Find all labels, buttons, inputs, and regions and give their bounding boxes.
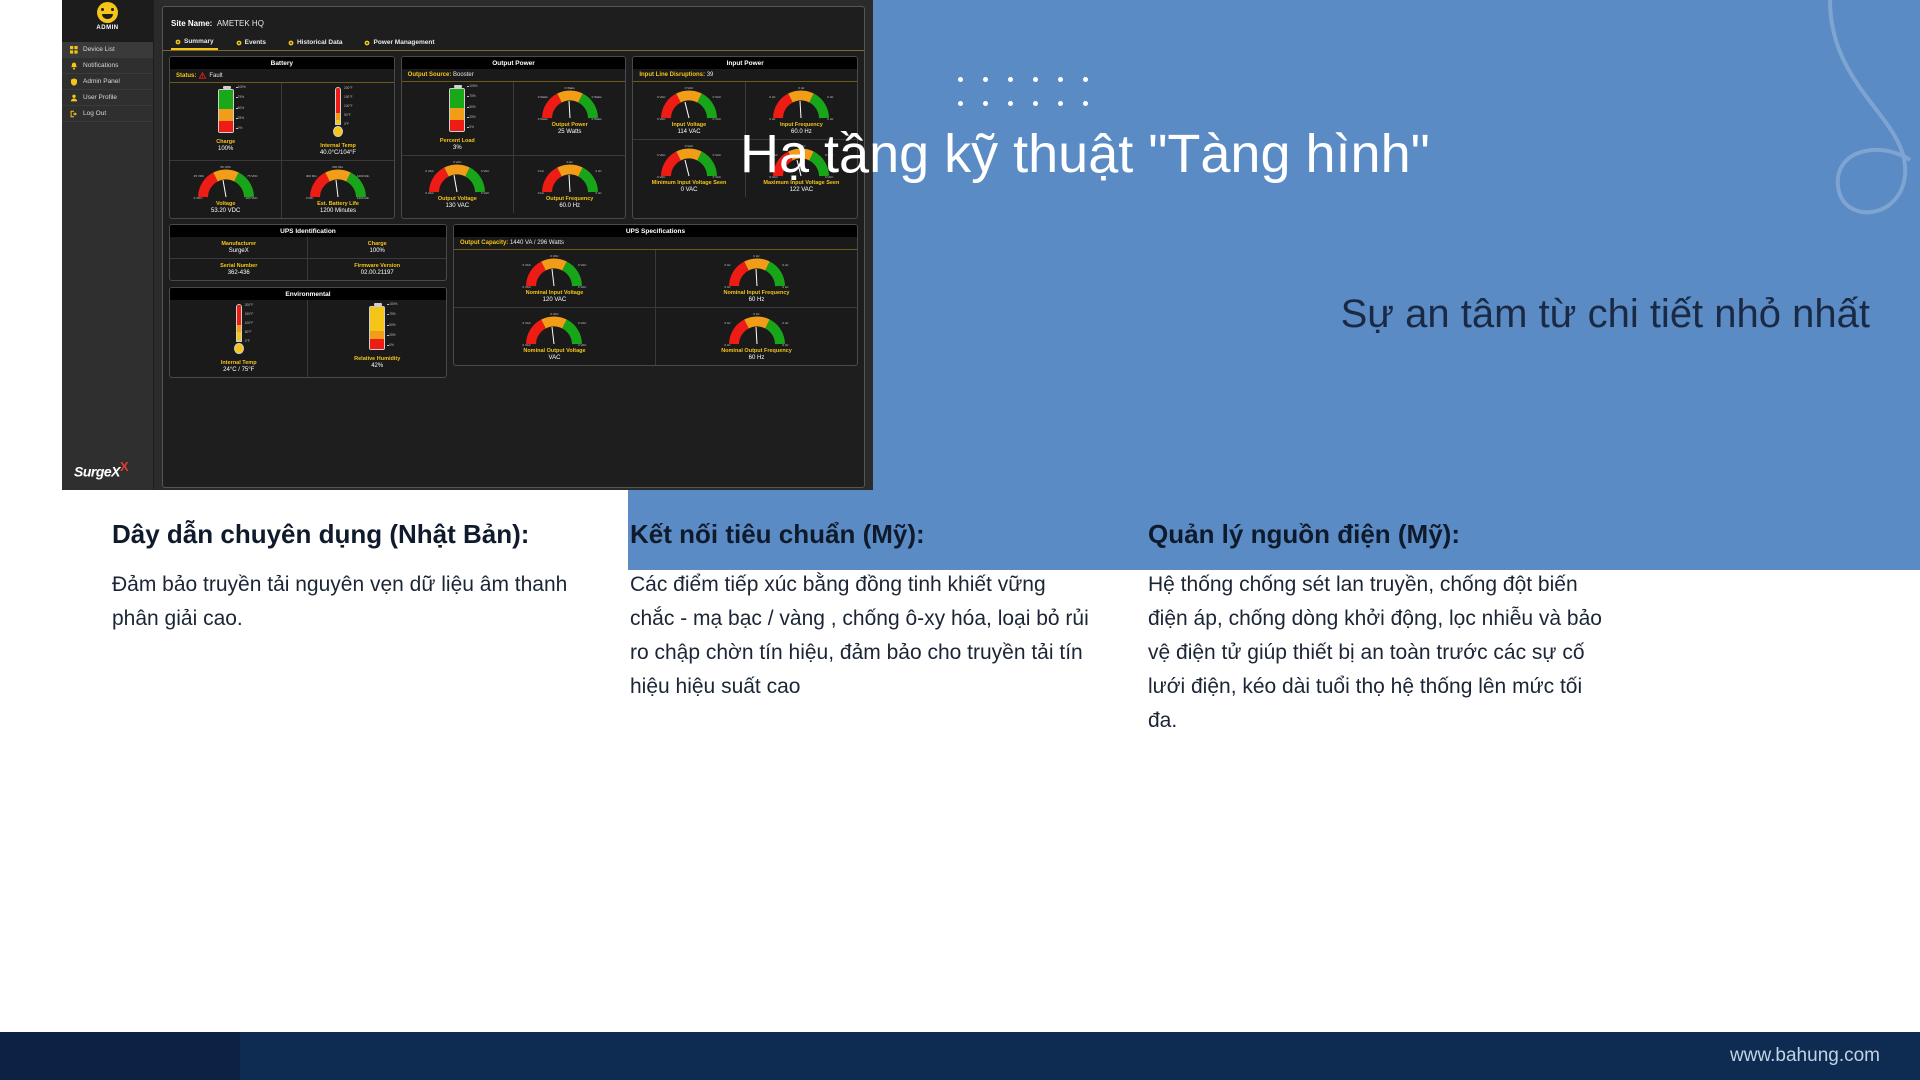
humidity-level-indicator xyxy=(369,306,385,350)
metric-value: 42% xyxy=(310,363,443,369)
card-title: UPS Specifications xyxy=(454,225,857,237)
card-ups-identification: UPS Identification Manufacturer SurgeX C… xyxy=(169,224,447,281)
gauge-tick: 0 VAC xyxy=(522,343,530,347)
feature-body: Đảm bảo truyền tải nguyên vẹn dữ liệu âm… xyxy=(112,568,572,636)
metric-minimum-input-voltage-seen: 0 VAC 0 VAC 0 VAC 0 VAC 0 VAC Minimum In… xyxy=(633,140,745,197)
slide-headline: Hạ tầng kỹ thuật "Tàng hình" xyxy=(740,125,1870,184)
gauge-tick: 1200 Min. xyxy=(357,196,370,200)
metric-value: 60 Hz xyxy=(658,355,855,361)
metric-label: Voltage xyxy=(172,201,279,207)
sidebar-item-admin-panel[interactable]: Admin Panel xyxy=(62,74,153,90)
gear-icon xyxy=(236,40,242,46)
metric-label: Relative Humidity xyxy=(310,356,443,362)
app-main-content: Site Name: AMETEK HQ Summary Events Hist… xyxy=(154,0,873,490)
bell-icon xyxy=(70,62,78,70)
metric-output-voltage: 0 VAC 0 VAC 0 VAC 0 VAC 0 VAC Output Vol… xyxy=(402,156,514,213)
tab-label: Historical Data xyxy=(297,39,343,46)
site-name-label: Site Name: xyxy=(171,19,212,28)
gauge-tick: 0 VAC xyxy=(578,285,586,289)
card-title: UPS Identification xyxy=(170,225,446,237)
gauge-tick: 0 Watts xyxy=(565,86,575,90)
dashboard-panel: Site Name: AMETEK HQ Summary Events Hist… xyxy=(162,6,865,488)
metric-label: Percent Load xyxy=(404,138,511,144)
input-line-disruptions: Input Line Disruptions: 39 xyxy=(633,69,857,82)
gauge-tick: 100 VDC xyxy=(245,196,257,200)
metric-label: Input Voltage xyxy=(635,122,742,128)
gauge-tick: 0 VAC xyxy=(522,285,530,289)
metric-value: 0 VAC xyxy=(635,187,742,193)
gauge-tick: 0 Hz xyxy=(725,321,731,325)
gauge-tick: 0 Hz xyxy=(596,191,602,195)
slide-footer: www.bahung.com xyxy=(0,1032,1920,1080)
gauge-tick: 0 VAC xyxy=(685,144,693,148)
metric-label: Output Frequency xyxy=(516,196,623,202)
metric-internal-temp: 200°F 150°F 100°F 50°F 0°F Internal Temp… xyxy=(282,83,393,160)
card-title: Environmental xyxy=(170,288,446,300)
gauge-tick: 1200 Min. xyxy=(357,174,370,178)
gauge-tick: 0 Watts xyxy=(592,95,602,99)
ups-id-row-1: Manufacturer SurgeX Charge 100% xyxy=(170,237,446,258)
sidebar-item-device-list[interactable]: Device List xyxy=(62,42,153,58)
output-capacity: Output Capacity: 1440 VA / 296 Watts xyxy=(454,237,857,250)
metric-value: 1200 Minutes xyxy=(284,208,391,214)
disruptions-label: Input Line Disruptions: xyxy=(639,72,705,78)
feature-column-3: Quản lý nguồn điện (Mỹ): Hệ thống chống … xyxy=(1148,515,1608,738)
metric-percent-load: 100% 75% 50% 25% 0% Percent Load 3% xyxy=(402,82,514,155)
slide-subheadline: Sự an tâm từ chi tiết nhỏ nhất xyxy=(740,292,1870,337)
battery-ticks: 100% 75% 50% 25% 0% xyxy=(236,86,252,130)
metric-label: Output Voltage xyxy=(404,196,511,202)
metric-value: 53.20 VDC xyxy=(172,208,279,214)
status-value: Fault xyxy=(209,73,222,79)
gauge-tick: 0 VDC xyxy=(194,196,203,200)
gauge-tick: 0 Hz xyxy=(769,95,775,99)
site-name-value: AMETEK HQ xyxy=(217,19,264,28)
metric-output-power: 0 Watts 0 Watts 0 Watts 0 Watts 0 Watts … xyxy=(514,82,625,155)
feature-body: Hệ thống chống sét lan truyền, chống đột… xyxy=(1148,568,1608,738)
battery-metrics-row-2: 50 VDC 25 VDC 75 VDC 0 VDC 100 VDC Volta… xyxy=(170,160,394,218)
gauge-minimum-input-voltage: 0 VAC 0 VAC 0 VAC 0 VAC 0 VAC xyxy=(660,145,718,179)
metric-label: Charge xyxy=(172,139,279,145)
gauge-input-frequency: 0 Hz 0 Hz 0 Hz 0 Hz 0 Hz xyxy=(772,87,830,121)
footer-notch xyxy=(0,1032,240,1080)
gauge-tick: 0 Hz xyxy=(725,263,731,267)
gauge-tick: 0 VAC xyxy=(713,175,721,179)
metric-output-frequency: 0 Hz 0 Hz 0 Hz 0 Hz 0 Hz Output Frequenc… xyxy=(514,156,625,213)
field-serial-number: Serial Number 362-436 xyxy=(170,259,308,280)
tab-summary[interactable]: Summary xyxy=(171,35,218,50)
warning-triangle-icon xyxy=(199,72,206,79)
metric-relative-humidity: 100% 75% 50% 25% 0% Relative Humidity 42… xyxy=(308,300,445,377)
gauge-nominal-input-voltage: 0 VAC 0 VAC 0 VAC 0 VAC 0 VAC xyxy=(525,255,583,289)
gauge-tick: 0 VAC xyxy=(578,343,586,347)
gauge-tick: 0 VAC xyxy=(685,86,693,90)
gauge-tick: 25 VDC xyxy=(194,174,205,178)
gauge-tick: 0 VAC xyxy=(578,321,586,325)
gauge-tick: 0 Hz xyxy=(827,95,833,99)
tab-events[interactable]: Events xyxy=(232,35,270,50)
metric-value: 24°C / 75°F xyxy=(172,367,305,373)
card-environmental: Environmental 200°F xyxy=(169,287,447,378)
feature-column-2: Kết nối tiêu chuẩn (Mỹ): Các điểm tiếp x… xyxy=(630,515,1090,738)
metric-value: 130 VAC xyxy=(404,203,511,209)
feature-column-1: Dây dẫn chuyên dụng (Nhật Bản): Đảm bảo … xyxy=(112,515,572,738)
gauge-est-battery-life: 600 Min. 300 Min. 1200 Min. 0 Min. 1200 … xyxy=(309,166,367,200)
gauge-output-power: 0 Watts 0 Watts 0 Watts 0 Watts 0 Watts xyxy=(541,87,599,121)
sidebar-item-label: Notifications xyxy=(83,62,118,69)
gauge-voltage: 50 VDC 25 VDC 75 VDC 0 VDC 100 VDC xyxy=(197,166,255,200)
environmental-metrics: 200°F 150°F 100°F 50°F 0°F Internal Temp… xyxy=(170,300,446,377)
metric-label: Minimum Input Voltage Seen xyxy=(635,180,742,186)
ups-id-row-2: Serial Number 362-436 Firmware Version 0… xyxy=(170,258,446,280)
sidebar-item-label: Log Out xyxy=(83,110,106,117)
ups-dashboard-screenshot: ADMIN Device List Notifications Admin Pa… xyxy=(62,0,873,490)
gauge-tick: 0 VAC xyxy=(522,263,530,267)
feature-heading: Dây dẫn chuyên dụng (Nhật Bản): xyxy=(112,515,572,554)
battery-level-indicator xyxy=(218,89,234,133)
gauge-tick: 0 VAC xyxy=(550,312,558,316)
gauge-nominal-output-voltage: 0 VAC 0 VAC 0 VAC 0 VAC 0 VAC xyxy=(525,313,583,347)
gauge-tick: 0 VAC xyxy=(425,191,433,195)
output-capacity-value: 1440 VA / 296 Watts xyxy=(510,240,564,246)
sidebar-item-log-out[interactable]: Log Out xyxy=(62,106,153,122)
gauge-tick: 0 VAC xyxy=(578,263,586,267)
gear-icon xyxy=(175,39,181,45)
gauge-tick: 300 Min. xyxy=(306,174,318,178)
gauge-tick: 75 VDC xyxy=(247,174,258,178)
gauge-tick: 0 VAC xyxy=(657,117,665,121)
gauge-tick: 0 Hz xyxy=(725,343,731,347)
status-label: Status: xyxy=(176,73,196,79)
grid-icon xyxy=(70,46,78,54)
field-value: 362-436 xyxy=(172,270,305,276)
field-charge: Charge 100% xyxy=(308,237,445,258)
gauge-tick: 0 Hz xyxy=(798,86,804,90)
card-title: Output Power xyxy=(402,57,626,69)
gauge-tick: 0 Watts xyxy=(538,95,548,99)
feature-heading: Quản lý nguồn điện (Mỹ): xyxy=(1148,515,1608,554)
gauge-input-voltage: 0 VAC 0 VAC 0 VAC 0 VAC 0 VAC xyxy=(660,87,718,121)
site-name-bar: Site Name: AMETEK HQ xyxy=(163,7,864,35)
metric-env-internal-temp: 200°F 150°F 100°F 50°F 0°F Internal Temp… xyxy=(170,300,308,377)
footer-website-url: www.bahung.com xyxy=(1730,1045,1880,1067)
metric-value: 3% xyxy=(404,145,511,151)
gauge-nominal-input-frequency: 0 Hz 0 Hz 0 Hz 0 Hz 0 Hz xyxy=(728,255,786,289)
logout-icon xyxy=(70,110,78,118)
gauge-tick: 0 Watts xyxy=(538,117,548,121)
sidebar-item-user-profile[interactable]: User Profile xyxy=(62,90,153,106)
feature-heading: Kết nối tiêu chuẩn (Mỹ): xyxy=(630,515,1090,554)
field-manufacturer: Manufacturer SurgeX xyxy=(170,237,308,258)
app-sidebar: ADMIN Device List Notifications Admin Pa… xyxy=(62,0,154,490)
output-source-label: Output Source: xyxy=(408,72,452,78)
output-metrics-row-2: 0 VAC 0 VAC 0 VAC 0 VAC 0 VAC Output Vol… xyxy=(402,155,626,213)
feature-columns: Dây dẫn chuyên dụng (Nhật Bản): Đảm bảo … xyxy=(112,515,1812,738)
gauge-tick: 0 Hz xyxy=(725,285,731,289)
metric-input-voltage: 0 VAC 0 VAC 0 VAC 0 VAC 0 VAC Input Volt… xyxy=(633,82,745,139)
gauge-tick: 0 VAC xyxy=(657,175,665,179)
battery-status: Status: Fault xyxy=(170,69,394,83)
user-avatar-icon xyxy=(97,2,118,23)
gauge-tick: 0 Hz xyxy=(596,169,602,173)
metric-label: Nominal Output Frequency xyxy=(658,348,855,354)
metric-value: 40.0°C/104°F xyxy=(284,150,391,156)
tab-historical-data[interactable]: Historical Data xyxy=(284,35,347,50)
gauge-tick: 0 VAC xyxy=(522,321,530,325)
field-label: Serial Number xyxy=(172,263,305,269)
field-value: SurgeX xyxy=(172,248,305,254)
metric-value: 120 VAC xyxy=(456,297,653,303)
metric-label: Output Power xyxy=(516,122,623,128)
dashboard-tabs: Summary Events Historical Data Power Man… xyxy=(163,35,864,51)
sidebar-item-label: Admin Panel xyxy=(83,78,120,85)
gauge-tick: 0 Min. xyxy=(306,196,314,200)
output-source-value: Booster xyxy=(453,72,474,78)
disruptions-value: 39 xyxy=(707,72,714,78)
sidebar-item-label: User Profile xyxy=(83,94,117,101)
gauge-tick: 0 Watts xyxy=(592,117,602,121)
battery-ticks: 100% 75% 50% 25% 0% xyxy=(387,303,403,347)
metric-label: Nominal Output Voltage xyxy=(456,348,653,354)
gauge-tick: 0 VAC xyxy=(713,153,721,157)
tab-label: Power Management xyxy=(373,39,434,46)
gauge-tick: 0 VAC xyxy=(425,169,433,173)
gauge-tick: 0 VAC xyxy=(481,191,489,195)
metric-nominal-output-voltage: 0 VAC 0 VAC 0 VAC 0 VAC 0 VAC Nominal Ou… xyxy=(454,308,656,365)
gauge-tick: 0 VAC xyxy=(657,153,665,157)
output-capacity-label: Output Capacity: xyxy=(460,240,508,246)
metric-label: Nominal Input Voltage xyxy=(456,290,653,296)
sidebar-profile[interactable]: ADMIN xyxy=(62,0,153,42)
gauge-tick: 0 Hz xyxy=(782,285,788,289)
metric-label: Internal Temp xyxy=(172,360,305,366)
metric-est-battery-life: 600 Min. 300 Min. 1200 Min. 0 Min. 1200 … xyxy=(282,161,393,218)
gauge-tick: 0 Hz xyxy=(769,117,775,121)
gauge-tick: 0 Hz xyxy=(567,160,573,164)
metric-value: 25 Watts xyxy=(516,129,623,135)
gear-icon xyxy=(364,40,370,46)
gauge-tick: 50 VDC xyxy=(220,165,231,169)
metric-value: 114 VAC xyxy=(635,129,742,135)
percent-load-indicator xyxy=(449,88,465,132)
output-metrics-row-1: 100% 75% 50% 25% 0% Percent Load 3% xyxy=(402,82,626,155)
gauge-tick: 0 Hz xyxy=(753,254,759,258)
tab-power-management[interactable]: Power Management xyxy=(360,35,438,50)
gauge-tick: 0 Hz xyxy=(538,191,544,195)
metric-nominal-input-voltage: 0 VAC 0 VAC 0 VAC 0 VAC 0 VAC Nominal In… xyxy=(454,250,656,307)
metric-label: Internal Temp xyxy=(284,143,391,149)
gear-icon xyxy=(288,40,294,46)
sidebar-item-label: Device List xyxy=(83,46,115,53)
gauge-tick: 0 Hz xyxy=(827,117,833,121)
metric-value: 122 VAC xyxy=(748,187,855,193)
output-source: Output Source: Booster xyxy=(402,69,626,82)
metric-label: Est. Battery Life xyxy=(284,201,391,207)
field-label: Charge xyxy=(310,241,443,247)
field-label: Firmware Version xyxy=(310,263,443,269)
sidebar-item-notifications[interactable]: Notifications xyxy=(62,58,153,74)
gauge-tick: 0 VAC xyxy=(481,169,489,173)
gauge-tick: 0 Hz xyxy=(538,169,544,173)
card-battery: Battery Status: Fault xyxy=(169,56,395,219)
field-value: 100% xyxy=(310,248,443,254)
sidebar-role-label: ADMIN xyxy=(62,25,153,31)
thermometer-indicator xyxy=(234,304,244,354)
battery-metrics-row-1: 100% 75% 50% 25% 0% Charge 100% xyxy=(170,83,394,160)
gauge-tick: 0 VAC xyxy=(453,160,461,164)
gauge-tick: 0 Hz xyxy=(782,343,788,347)
field-value: 02.00.21197 xyxy=(310,270,443,276)
gauge-tick: 0 Hz xyxy=(782,263,788,267)
tab-label: Events xyxy=(245,39,266,46)
gauge-output-frequency: 0 Hz 0 Hz 0 Hz 0 Hz 0 Hz xyxy=(541,161,599,195)
gauge-tick: 0 VAC xyxy=(713,117,721,121)
gauge-tick: 0 VAC xyxy=(550,254,558,258)
metric-value: 60.0 Hz xyxy=(516,203,623,209)
field-firmware-version: Firmware Version 02.00.21197 xyxy=(308,259,445,280)
metric-value: VAC xyxy=(456,355,653,361)
tab-label: Summary xyxy=(184,38,214,45)
card-output-power: Output Power Output Source: Booster xyxy=(401,56,627,219)
thermometer-indicator xyxy=(333,87,343,137)
metric-charge: 100% 75% 50% 25% 0% Charge 100% xyxy=(170,83,282,160)
card-title: Input Power xyxy=(633,57,857,69)
metric-value: 100% xyxy=(172,146,279,152)
shield-user-icon xyxy=(70,78,78,86)
gauge-tick: 600 Min. xyxy=(332,165,344,169)
metric-voltage: 50 VDC 25 VDC 75 VDC 0 VDC 100 VDC Volta… xyxy=(170,161,282,218)
gauge-tick: 0 VAC xyxy=(657,95,665,99)
gauge-output-voltage: 0 VAC 0 VAC 0 VAC 0 VAC 0 VAC xyxy=(428,161,486,195)
field-label: Manufacturer xyxy=(172,241,305,247)
feature-body: Các điểm tiếp xúc bằng đồng tinh khiết v… xyxy=(630,568,1090,704)
person-icon xyxy=(70,94,78,102)
gauge-tick: 0 VAC xyxy=(713,95,721,99)
decorative-dot-grid xyxy=(948,70,1098,118)
card-title: Battery xyxy=(170,57,394,69)
surgex-logo: SurgeXX xyxy=(74,459,128,480)
battery-ticks: 100% 75% 50% 25% 0% xyxy=(467,85,483,129)
